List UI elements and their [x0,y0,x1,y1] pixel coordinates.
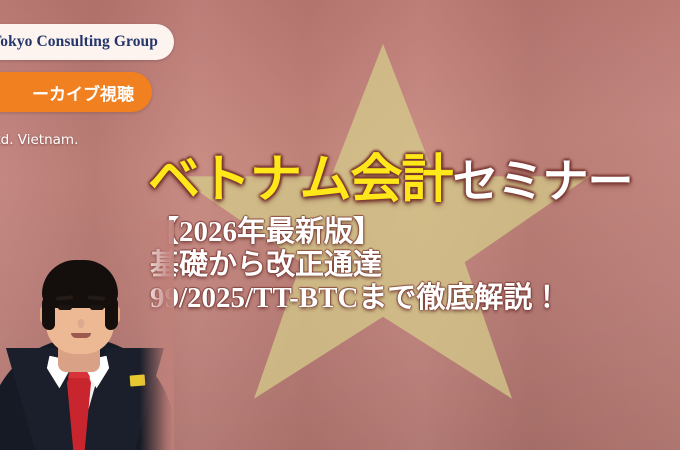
presenter-edge-fade [140,220,174,450]
subtitle-block: 【2026年最新版】 基礎から改正通達 99/2025/TT-BTCまで徹底解説… [150,216,561,315]
presenter-eye-left [58,305,72,310]
brand-badge[interactable]: Tokyo Consulting Group [0,24,174,60]
speaker-name: 太 [0,169,162,201]
archive-badge[interactable]: ーカイブ視聴 [0,72,152,112]
page-title-secondary: セミナー [452,154,632,208]
subtitle-line-1: 【2026年最新版】 [150,216,561,249]
brand-badge-label: Tokyo Consulting Group [0,33,158,51]
page-title: ベトナム会計セミナー [148,152,632,209]
presenter-mouth [71,333,91,338]
speaker-credit: sulting Co.,Ltd. Vietnam. 人 拠点長 太 [0,132,162,201]
page-title-primary: ベトナム会計 [148,150,452,210]
archive-badge-label: ーカイブ視聴 [32,80,134,105]
speaker-company: sulting Co.,Ltd. Vietnam. [0,132,162,149]
presenter-hair-side-right [105,296,118,330]
presenter-eye-right [90,305,104,310]
subtitle-line-2: 基礎から改正通達 [150,249,561,282]
presenter-nose [78,319,84,328]
subtitle-line-3: 99/2025/TT-BTCまで徹底解説！ [150,282,561,315]
webinar-thumbnail: Tokyo Consulting Group ーカイブ視聴 sulting Co… [0,0,680,450]
speaker-role: 人 拠点長 [0,149,162,166]
presenter-photo [0,220,174,450]
presenter-hair-side-left [42,296,55,330]
